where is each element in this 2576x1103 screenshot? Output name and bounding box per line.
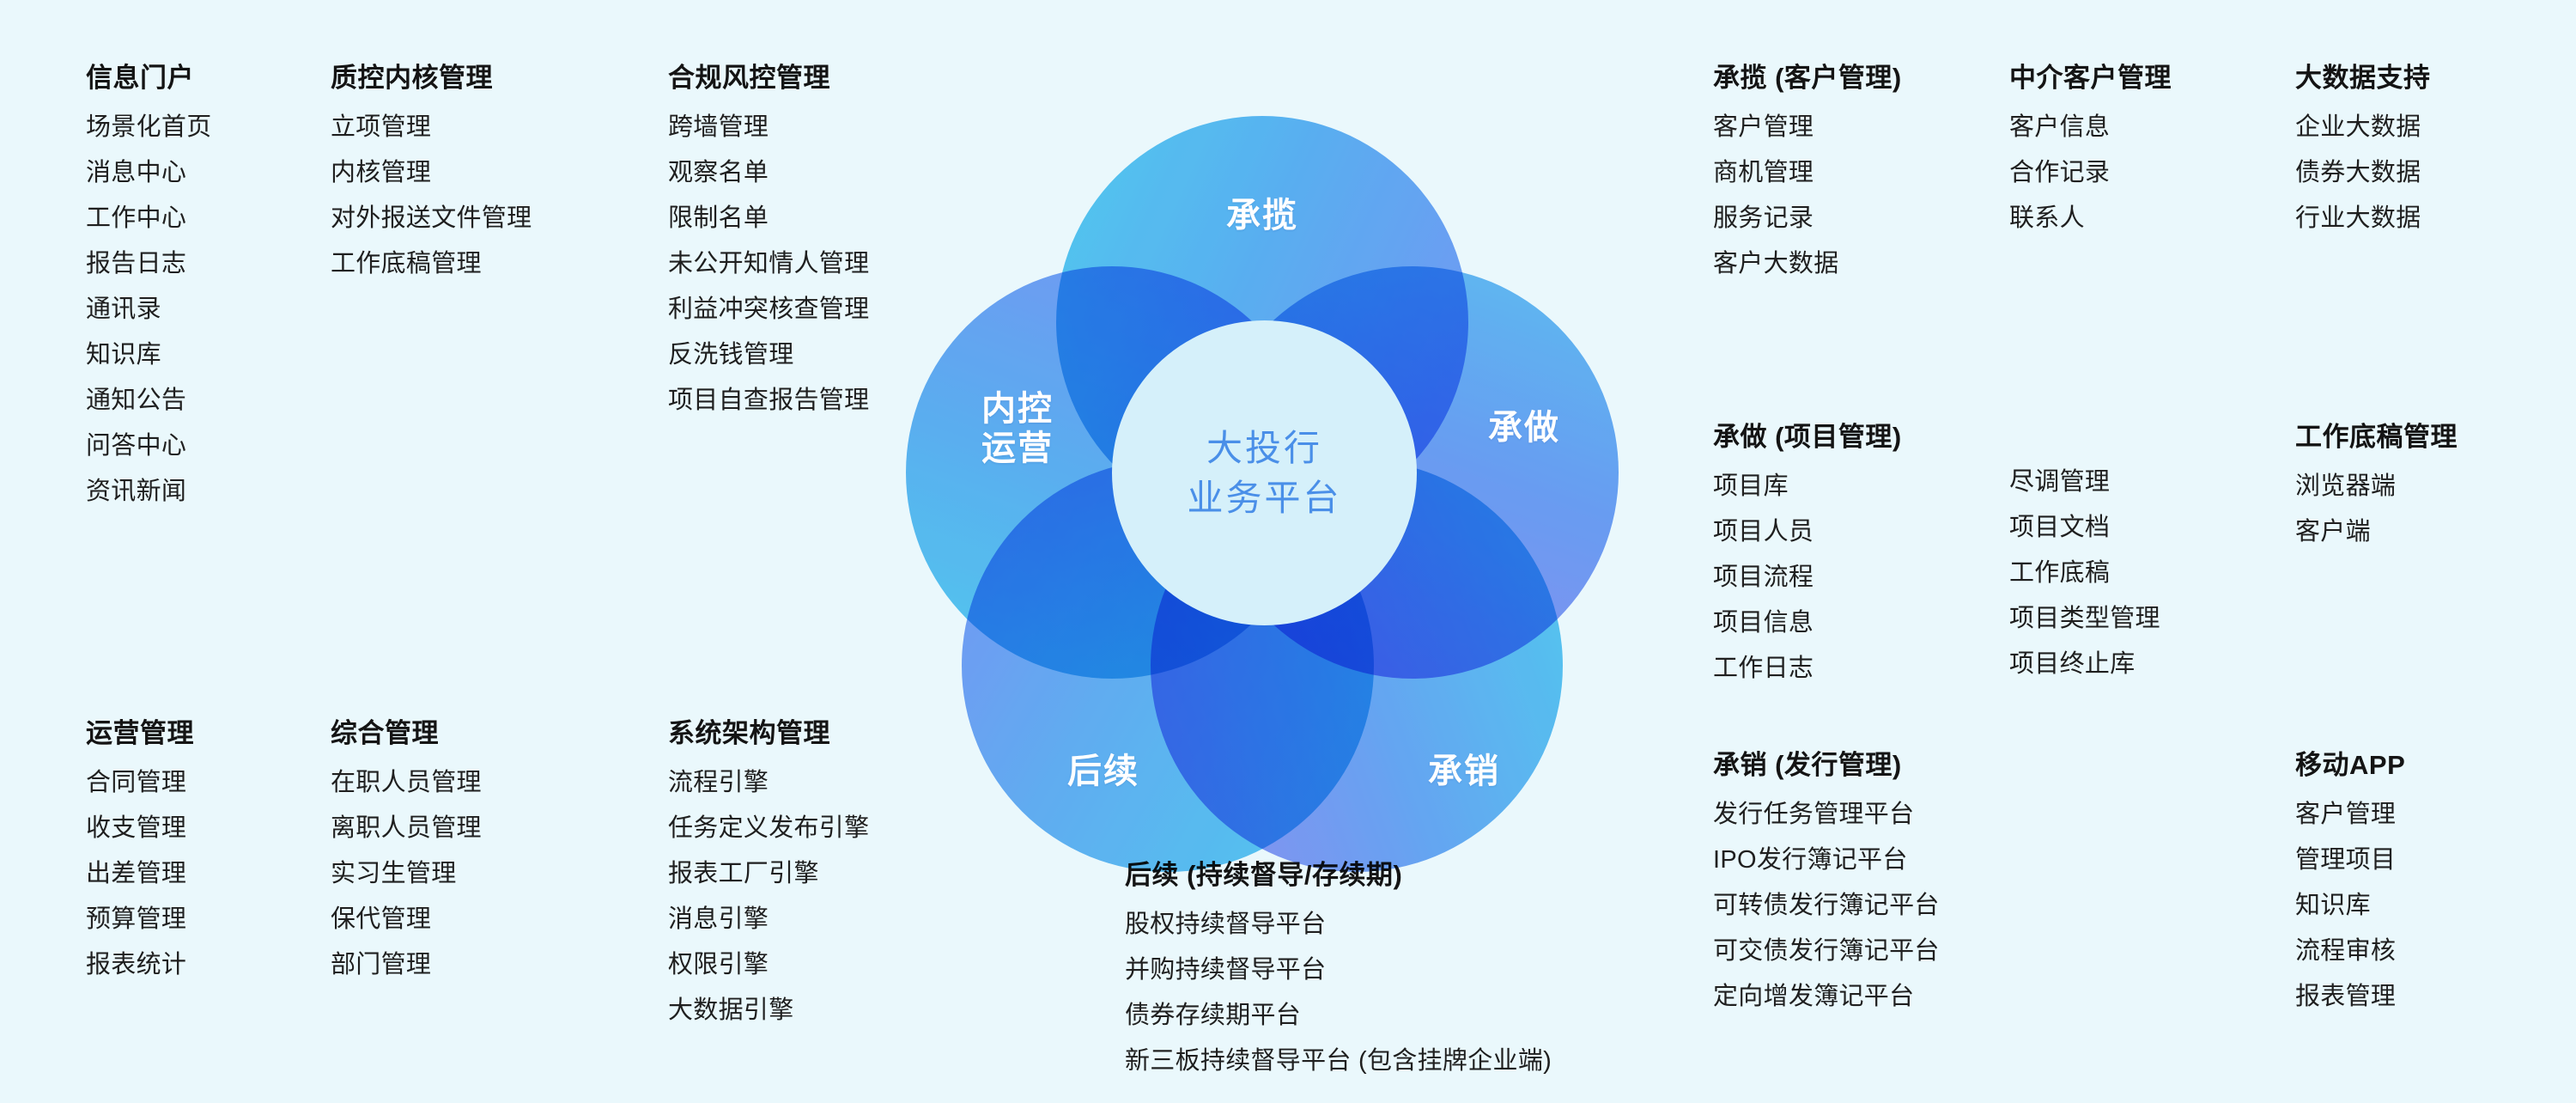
list-item[interactable]: 工作底稿管理 [331, 241, 532, 287]
column-compliance-risk: 合规风控管理 跨墙管理 观察名单 限制名单 未公开知情人管理 利益冲突核查管理 … [668, 62, 869, 424]
list-item[interactable]: 客户端 [2295, 509, 2458, 555]
list-item[interactable]: 利益冲突核查管理 [668, 287, 869, 332]
column-title-big-data-support: 大数据支持 [2295, 62, 2431, 94]
list-item[interactable]: 收支管理 [86, 806, 194, 851]
list-item[interactable]: 流程引擎 [668, 760, 869, 806]
list-item[interactable]: 未公开知情人管理 [668, 241, 869, 287]
list-item[interactable]: 跨墙管理 [668, 105, 869, 150]
list-item[interactable]: 项目终止库 [2009, 642, 2160, 687]
list-item[interactable]: 企业大数据 [2295, 105, 2431, 150]
list-item[interactable]: 资讯新闻 [86, 469, 212, 515]
petal-label-nei-kong: 内控 运营 [945, 389, 1091, 468]
column-list-operations: 合同管理 收支管理 出差管理 预算管理 报表统计 [86, 760, 194, 988]
list-item[interactable]: 项目信息 [1713, 600, 1902, 646]
petal-label-cheng-zuo: 承做 [1455, 408, 1593, 448]
list-item[interactable]: 通知公告 [86, 378, 212, 424]
list-item[interactable]: 项目流程 [1713, 555, 1902, 600]
column-big-data-support: 大数据支持 企业大数据 债券大数据 行业大数据 [2295, 62, 2431, 241]
list-item[interactable]: 工作中心 [86, 196, 212, 241]
petal-label-hou-xu: 后续 [1035, 752, 1172, 791]
list-item[interactable]: 客户管理 [1713, 105, 1902, 150]
column-list-system-architecture: 流程引擎 任务定义发布引擎 报表工厂引擎 消息引擎 权限引擎 大数据引擎 [668, 760, 869, 1033]
architecture-diagram-page: 信息门户 场景化首页 消息中心 工作中心 报告日志 通讯录 知识库 通知公告 问… [0, 0, 2576, 1103]
list-item[interactable]: 工作日志 [1713, 646, 1902, 692]
column-undertaking: 承揽 (客户管理) 客户管理 商机管理 服务记录 客户大数据 [1713, 62, 1902, 287]
list-item[interactable]: 服务记录 [1713, 196, 1902, 241]
list-item[interactable]: 立项管理 [331, 105, 532, 150]
column-list-intermediary-client: 客户信息 合作记录 联系人 [2009, 105, 2172, 241]
column-title-issuance: 承销 (发行管理) [1713, 749, 1940, 781]
list-item[interactable]: 可交债发行簿记平台 [1713, 929, 1940, 974]
list-item[interactable]: 项目文档 [2009, 505, 2160, 551]
column-title-project-management: 承做 (项目管理) [1713, 421, 1902, 453]
column-title-compliance-risk: 合规风控管理 [668, 62, 869, 94]
list-item[interactable]: 观察名单 [668, 150, 869, 196]
column-issuance: 承销 (发行管理) 发行任务管理平台 IPO发行簿记平台 可转债发行簿记平台 可… [1713, 749, 1940, 1020]
column-title-intermediary-client: 中介客户管理 [2009, 62, 2172, 94]
list-item[interactable]: 债券大数据 [2295, 150, 2431, 196]
column-title-undertaking: 承揽 (客户管理) [1713, 62, 1902, 94]
list-item[interactable]: 报表工厂引擎 [668, 851, 869, 897]
list-item[interactable]: 大数据引擎 [668, 988, 869, 1033]
list-item[interactable]: 内核管理 [331, 150, 532, 196]
list-item[interactable]: 限制名单 [668, 196, 869, 241]
list-item[interactable]: 项目自查报告管理 [668, 378, 869, 424]
column-project-management-second: 尽调管理 项目文档 工作底稿 项目类型管理 项目终止库 [2009, 460, 2160, 687]
list-item[interactable]: 离职人员管理 [331, 806, 482, 851]
list-item[interactable]: 场景化首页 [86, 105, 212, 150]
list-item[interactable]: 尽调管理 [2009, 460, 2160, 505]
column-list-quality-control: 立项管理 内核管理 对外报送文件管理 工作底稿管理 [331, 105, 532, 287]
list-item[interactable]: 保代管理 [331, 897, 482, 942]
column-title-info-portal: 信息门户 [86, 62, 212, 94]
column-system-architecture: 系统架构管理 流程引擎 任务定义发布引擎 报表工厂引擎 消息引擎 权限引擎 大数… [668, 717, 869, 1033]
column-list-issuance: 发行任务管理平台 IPO发行簿记平台 可转债发行簿记平台 可交债发行簿记平台 定… [1713, 792, 1940, 1020]
column-intermediary-client: 中介客户管理 客户信息 合作记录 联系人 [2009, 62, 2172, 241]
list-item[interactable]: 报表统计 [86, 942, 194, 988]
list-item[interactable]: 客户信息 [2009, 105, 2172, 150]
column-title-general-admin: 综合管理 [331, 717, 482, 749]
column-list-big-data-support: 企业大数据 债券大数据 行业大数据 [2295, 105, 2431, 241]
list-item[interactable]: 并购持续督导平台 [1125, 948, 1552, 993]
list-item[interactable]: 客户管理 [2295, 792, 2405, 838]
list-item[interactable]: 联系人 [2009, 196, 2172, 241]
column-title-mobile-app: 移动APP [2295, 749, 2405, 781]
column-follow-up: 后续 (持续督导/存续期) 股权持续督导平台 并购持续督导平台 债券存续期平台 … [1125, 859, 1552, 1084]
column-general-admin: 综合管理 在职人员管理 离职人员管理 实习生管理 保代管理 部门管理 [331, 717, 482, 988]
list-item[interactable]: 工作底稿 [2009, 551, 2160, 596]
list-item[interactable]: 项目人员 [1713, 509, 1902, 555]
list-item[interactable]: 权限引擎 [668, 942, 869, 988]
column-title-quality-control: 质控内核管理 [331, 62, 532, 94]
column-title-operations: 运营管理 [86, 717, 194, 749]
list-item[interactable]: 浏览器端 [2295, 464, 2458, 509]
column-mobile-app: 移动APP 客户管理 管理项目 知识库 流程审核 报表管理 [2295, 749, 2405, 1020]
list-item[interactable]: 报告日志 [86, 241, 212, 287]
list-item[interactable]: 在职人员管理 [331, 760, 482, 806]
list-item[interactable]: 定向增发簿记平台 [1713, 974, 1940, 1020]
list-item[interactable]: 反洗钱管理 [668, 332, 869, 378]
column-list-general-admin: 在职人员管理 离职人员管理 实习生管理 保代管理 部门管理 [331, 760, 482, 988]
list-item[interactable]: 任务定义发布引擎 [668, 806, 869, 851]
list-item[interactable]: 发行任务管理平台 [1713, 792, 1940, 838]
list-item[interactable]: 合同管理 [86, 760, 194, 806]
list-item[interactable]: 对外报送文件管理 [331, 196, 532, 241]
column-list-info-portal: 场景化首页 消息中心 工作中心 报告日志 通讯录 知识库 通知公告 问答中心 资… [86, 105, 212, 515]
list-item[interactable]: IPO发行簿记平台 [1713, 838, 1940, 883]
list-item[interactable]: 可转债发行簿记平台 [1713, 883, 1940, 929]
list-item[interactable]: 消息中心 [86, 150, 212, 196]
list-item[interactable]: 新三板持续督导平台 (包含挂牌企业端) [1125, 1039, 1552, 1084]
column-list-mobile-app: 客户管理 管理项目 知识库 流程审核 报表管理 [2295, 792, 2405, 1020]
column-working-papers: 工作底稿管理 浏览器端 客户端 [2295, 421, 2458, 555]
list-item[interactable]: 问答中心 [86, 424, 212, 469]
list-item[interactable]: 报表管理 [2295, 974, 2405, 1020]
diagram-core-label: 大投行 业务平台 [1187, 424, 1341, 523]
list-item[interactable]: 知识库 [86, 332, 212, 378]
list-item[interactable]: 项目类型管理 [2009, 596, 2160, 642]
column-list-compliance-risk: 跨墙管理 观察名单 限制名单 未公开知情人管理 利益冲突核查管理 反洗钱管理 项… [668, 105, 869, 424]
list-item[interactable]: 实习生管理 [331, 851, 482, 897]
list-item[interactable]: 消息引擎 [668, 897, 869, 942]
list-item[interactable]: 部门管理 [331, 942, 482, 988]
column-list-follow-up: 股权持续督导平台 并购持续督导平台 债券存续期平台 新三板持续督导平台 (包含挂… [1125, 902, 1552, 1084]
column-list-project-management: 项目库 项目人员 项目流程 项目信息 工作日志 [1713, 464, 1902, 692]
list-item[interactable]: 预算管理 [86, 897, 194, 942]
list-item[interactable]: 通讯录 [86, 287, 212, 332]
column-info-portal: 信息门户 场景化首页 消息中心 工作中心 报告日志 通讯录 知识库 通知公告 问… [86, 62, 212, 515]
list-item[interactable]: 出差管理 [86, 851, 194, 897]
column-list-undertaking: 客户管理 商机管理 服务记录 客户大数据 [1713, 105, 1902, 287]
list-item[interactable]: 商机管理 [1713, 150, 1902, 196]
list-item[interactable]: 行业大数据 [2295, 196, 2431, 241]
list-item[interactable]: 知识库 [2295, 883, 2405, 929]
column-quality-control: 质控内核管理 立项管理 内核管理 对外报送文件管理 工作底稿管理 [331, 62, 532, 287]
column-list-working-papers: 浏览器端 客户端 [2295, 464, 2458, 555]
list-item[interactable]: 流程审核 [2295, 929, 2405, 974]
column-title-system-architecture: 系统架构管理 [668, 717, 869, 749]
list-item[interactable]: 管理项目 [2295, 838, 2405, 883]
list-item[interactable]: 债券存续期平台 [1125, 993, 1552, 1039]
list-item[interactable]: 股权持续督导平台 [1125, 902, 1552, 948]
list-item[interactable]: 合作记录 [2009, 150, 2172, 196]
list-item[interactable]: 客户大数据 [1713, 241, 1902, 287]
column-title-working-papers: 工作底稿管理 [2295, 421, 2458, 453]
diagram-core-circle: 大投行 业务平台 [1112, 320, 1417, 625]
list-item[interactable]: 项目库 [1713, 464, 1902, 509]
petal-label-cheng-lan: 承揽 [1194, 196, 1331, 235]
petal-label-cheng-xiao: 承销 [1395, 752, 1533, 791]
column-list-project-management-second: 尽调管理 项目文档 工作底稿 项目类型管理 项目终止库 [2009, 460, 2160, 687]
column-operations: 运营管理 合同管理 收支管理 出差管理 预算管理 报表统计 [86, 717, 194, 988]
venn-flower-diagram: 大投行 业务平台 承揽 承做 承销 后续 内控 运营 [906, 116, 1619, 829]
column-project-management: 承做 (项目管理) 项目库 项目人员 项目流程 项目信息 工作日志 [1713, 421, 1902, 692]
